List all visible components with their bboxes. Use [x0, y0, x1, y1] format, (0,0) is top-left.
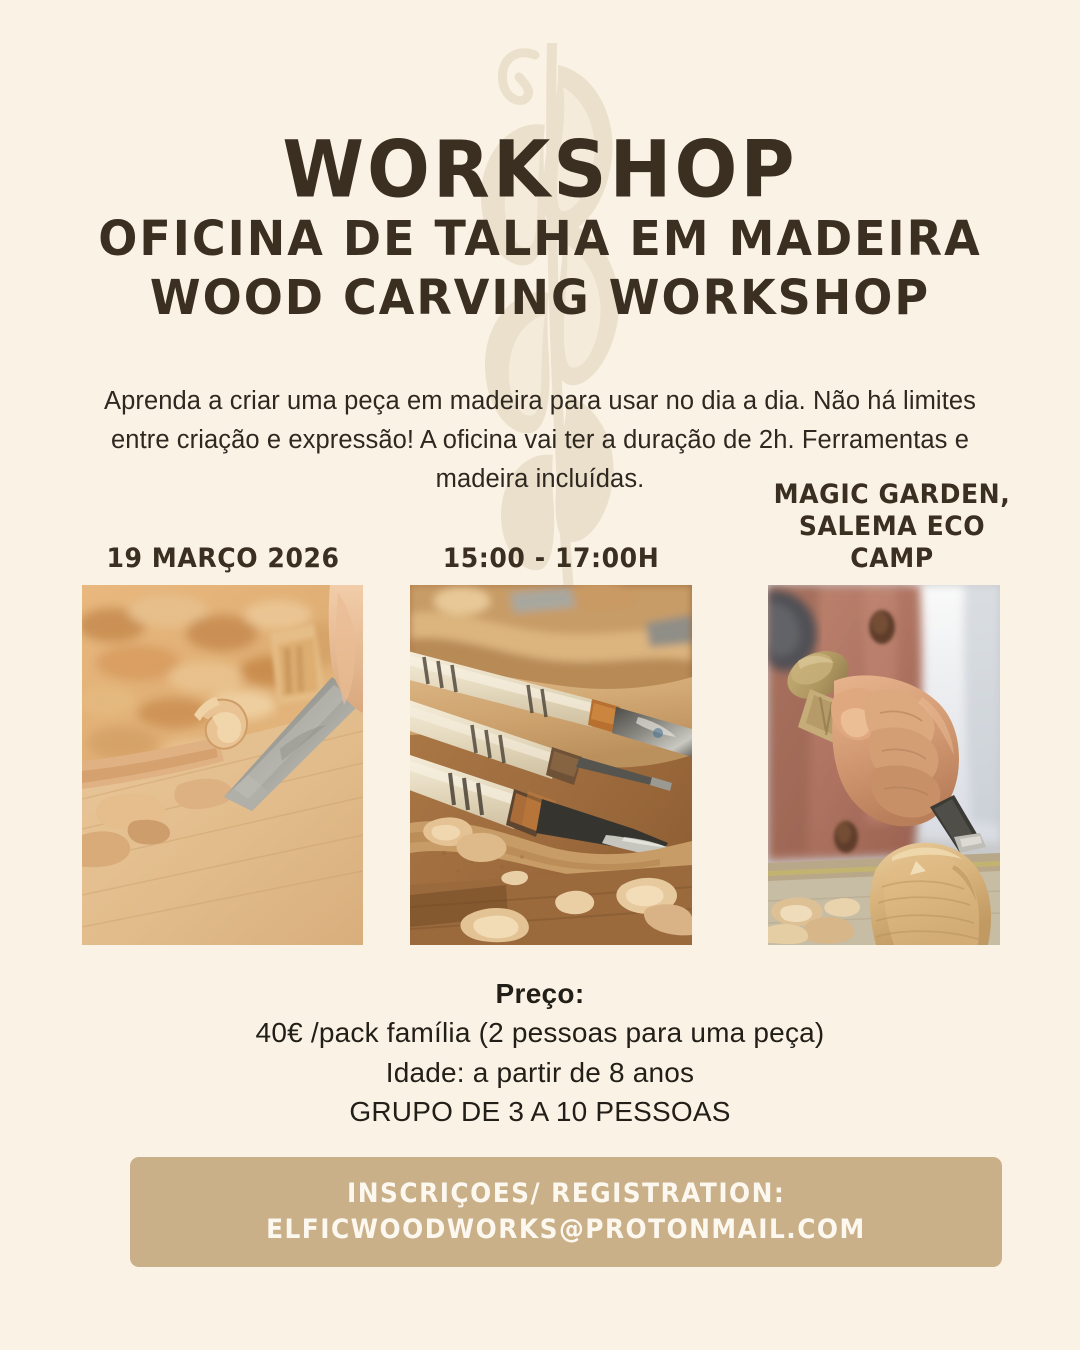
title-block: WORKSHOP OFICINA DE TALHA EM MADEIRA WOO…	[0, 132, 1080, 327]
info-location-line1: MAGIC GARDEN,	[753, 479, 1032, 511]
registration-email[interactable]: ELFICWOODWORKS@PROTONMAIL.COM	[266, 1212, 866, 1248]
page-title: WORKSHOP	[0, 130, 1080, 212]
photo-gallery	[0, 585, 1080, 945]
price-line-group-size: GRUPO DE 3 A 10 PESSOAS	[0, 1092, 1080, 1132]
info-time: 15:00 - 17:00H	[420, 543, 682, 575]
price-heading: Preço:	[0, 975, 1080, 1013]
info-location-line2: SALEMA ECO CAMP	[753, 511, 1032, 575]
price-block: Preço: 40€ /pack família (2 pessoas para…	[0, 975, 1080, 1132]
registration-banner[interactable]: INSCRIÇOES/ REGISTRATION: ELFICWOODWORKS…	[130, 1157, 1002, 1267]
info-location: MAGIC GARDEN, SALEMA ECO CAMP	[753, 479, 1032, 575]
photo-chisel-carving-wood-shavings	[82, 585, 363, 945]
price-line-age: Idade: a partir de 8 anos	[0, 1053, 1080, 1093]
poster-canvas: WORKSHOP OFICINA DE TALHA EM MADEIRA WOO…	[0, 0, 1080, 1350]
photo-carving-chisels-on-leather-roll	[410, 585, 692, 945]
info-header-row: 19 MARÇO 2026 15:00 - 17:00H MAGIC GARDE…	[0, 505, 1080, 583]
price-line-family-pack: 40€ /pack família (2 pessoas para uma pe…	[0, 1013, 1080, 1053]
title-subtitle-en: WOOD CARVING WORKSHOP	[0, 266, 1080, 328]
info-date: 19 MARÇO 2026	[92, 543, 354, 575]
title-subtitle-pt: OFICINA DE TALHA EM MADEIRA	[0, 207, 1080, 269]
registration-label: INSCRIÇOES/ REGISTRATION:	[347, 1176, 785, 1212]
photo-craftsman-with-mallet-and-chisel	[768, 585, 1000, 945]
